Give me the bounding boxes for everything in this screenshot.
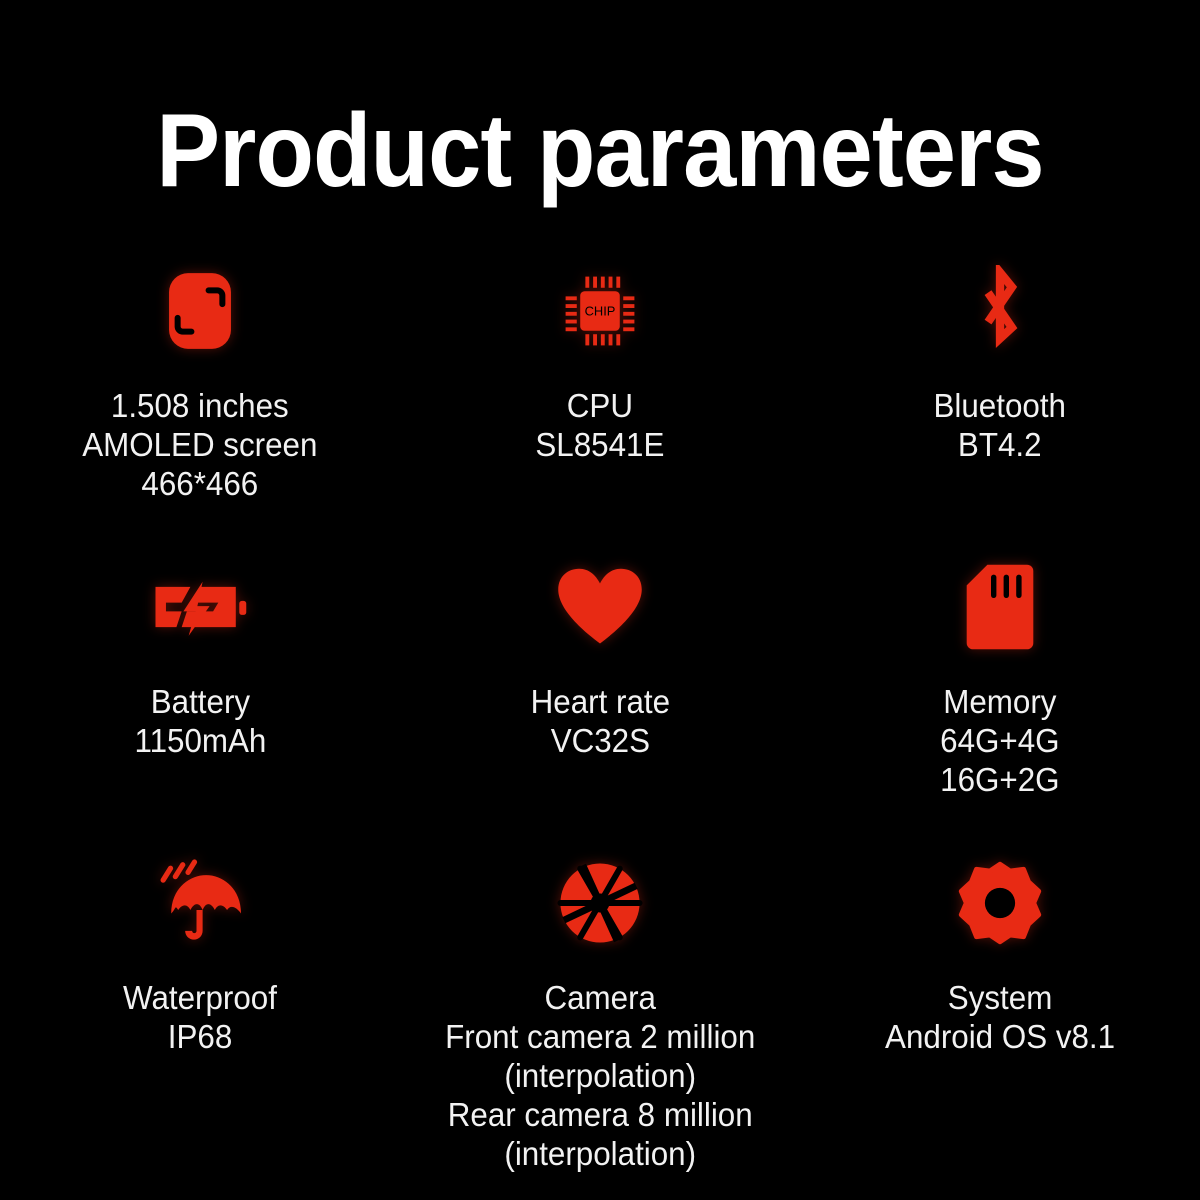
gear-icon <box>958 844 1042 962</box>
spec-item-battery: Battery 1150mAh <box>0 548 400 844</box>
spec-line: Rear camera 8 million <box>445 1095 755 1134</box>
spec-line: Bluetooth <box>934 386 1066 425</box>
spec-line: Heart rate <box>530 682 669 721</box>
spec-grid: 1.508 inches AMOLED screen 466*466 <box>0 252 1200 1173</box>
spec-label-camera: Camera Front camera 2 million (interpola… <box>445 978 755 1173</box>
spec-line: 1150mAh <box>134 721 266 760</box>
spec-line: 64G+4G <box>940 721 1059 760</box>
umbrella-rain-icon <box>152 844 248 962</box>
spec-line: Front camera 2 million <box>445 1017 755 1056</box>
spec-line: Waterproof <box>123 978 277 1017</box>
spec-line: CPU <box>535 386 664 425</box>
cpu-chip-icon-text: CHIP <box>585 303 616 318</box>
memory-card-icon <box>964 548 1036 666</box>
spec-label-battery: Battery 1150mAh <box>134 682 266 760</box>
spec-label-bluetooth: Bluetooth BT4.2 <box>934 386 1066 464</box>
spec-item-system: System Android OS v8.1 <box>800 844 1200 1173</box>
spec-label-screen: 1.508 inches AMOLED screen 466*466 <box>82 386 317 503</box>
cpu-chip-icon: CHIP <box>557 252 643 370</box>
spec-line: VC32S <box>530 721 669 760</box>
spec-line: (interpolation) <box>445 1134 755 1173</box>
spec-label-waterproof: Waterproof IP68 <box>123 978 277 1056</box>
spec-item-cpu: CHIP CPU SL8541E <box>400 252 800 548</box>
spec-label-system: System Android OS v8.1 <box>885 978 1115 1056</box>
spec-label-heart-rate: Heart rate VC32S <box>530 682 669 760</box>
spec-item-heart-rate: Heart rate VC32S <box>400 548 800 844</box>
spec-item-waterproof: Waterproof IP68 <box>0 844 400 1173</box>
spec-line: 1.508 inches <box>82 386 317 425</box>
bluetooth-icon <box>960 252 1040 370</box>
spec-line: IP68 <box>123 1017 277 1056</box>
spec-item-memory: Memory 64G+4G 16G+2G <box>800 548 1200 844</box>
screen-icon <box>157 252 243 370</box>
spec-label-memory: Memory 64G+4G 16G+2G <box>940 682 1059 799</box>
spec-line: SL8541E <box>535 425 664 464</box>
spec-line: 16G+2G <box>940 760 1059 799</box>
product-parameters-page: Product parameters 1.508 inches AMOLED s… <box>0 0 1200 1200</box>
spec-line: AMOLED screen <box>82 425 317 464</box>
heart-icon <box>556 548 644 666</box>
spec-line: BT4.2 <box>934 425 1066 464</box>
spec-line: Battery <box>134 682 266 721</box>
spec-line: Camera <box>445 978 755 1017</box>
spec-line: Memory <box>940 682 1059 721</box>
battery-charging-icon <box>152 548 248 666</box>
spec-line: 466*466 <box>82 464 317 503</box>
spec-item-camera: Camera Front camera 2 million (interpola… <box>400 844 800 1173</box>
spec-line: Android OS v8.1 <box>885 1017 1115 1056</box>
spec-item-screen: 1.508 inches AMOLED screen 466*466 <box>0 252 400 548</box>
page-title: Product parameters <box>48 96 1152 206</box>
spec-line: System <box>885 978 1115 1017</box>
camera-aperture-icon <box>557 844 643 962</box>
spec-line: (interpolation) <box>445 1056 755 1095</box>
spec-item-bluetooth: Bluetooth BT4.2 <box>800 252 1200 548</box>
spec-label-cpu: CPU SL8541E <box>535 386 664 464</box>
